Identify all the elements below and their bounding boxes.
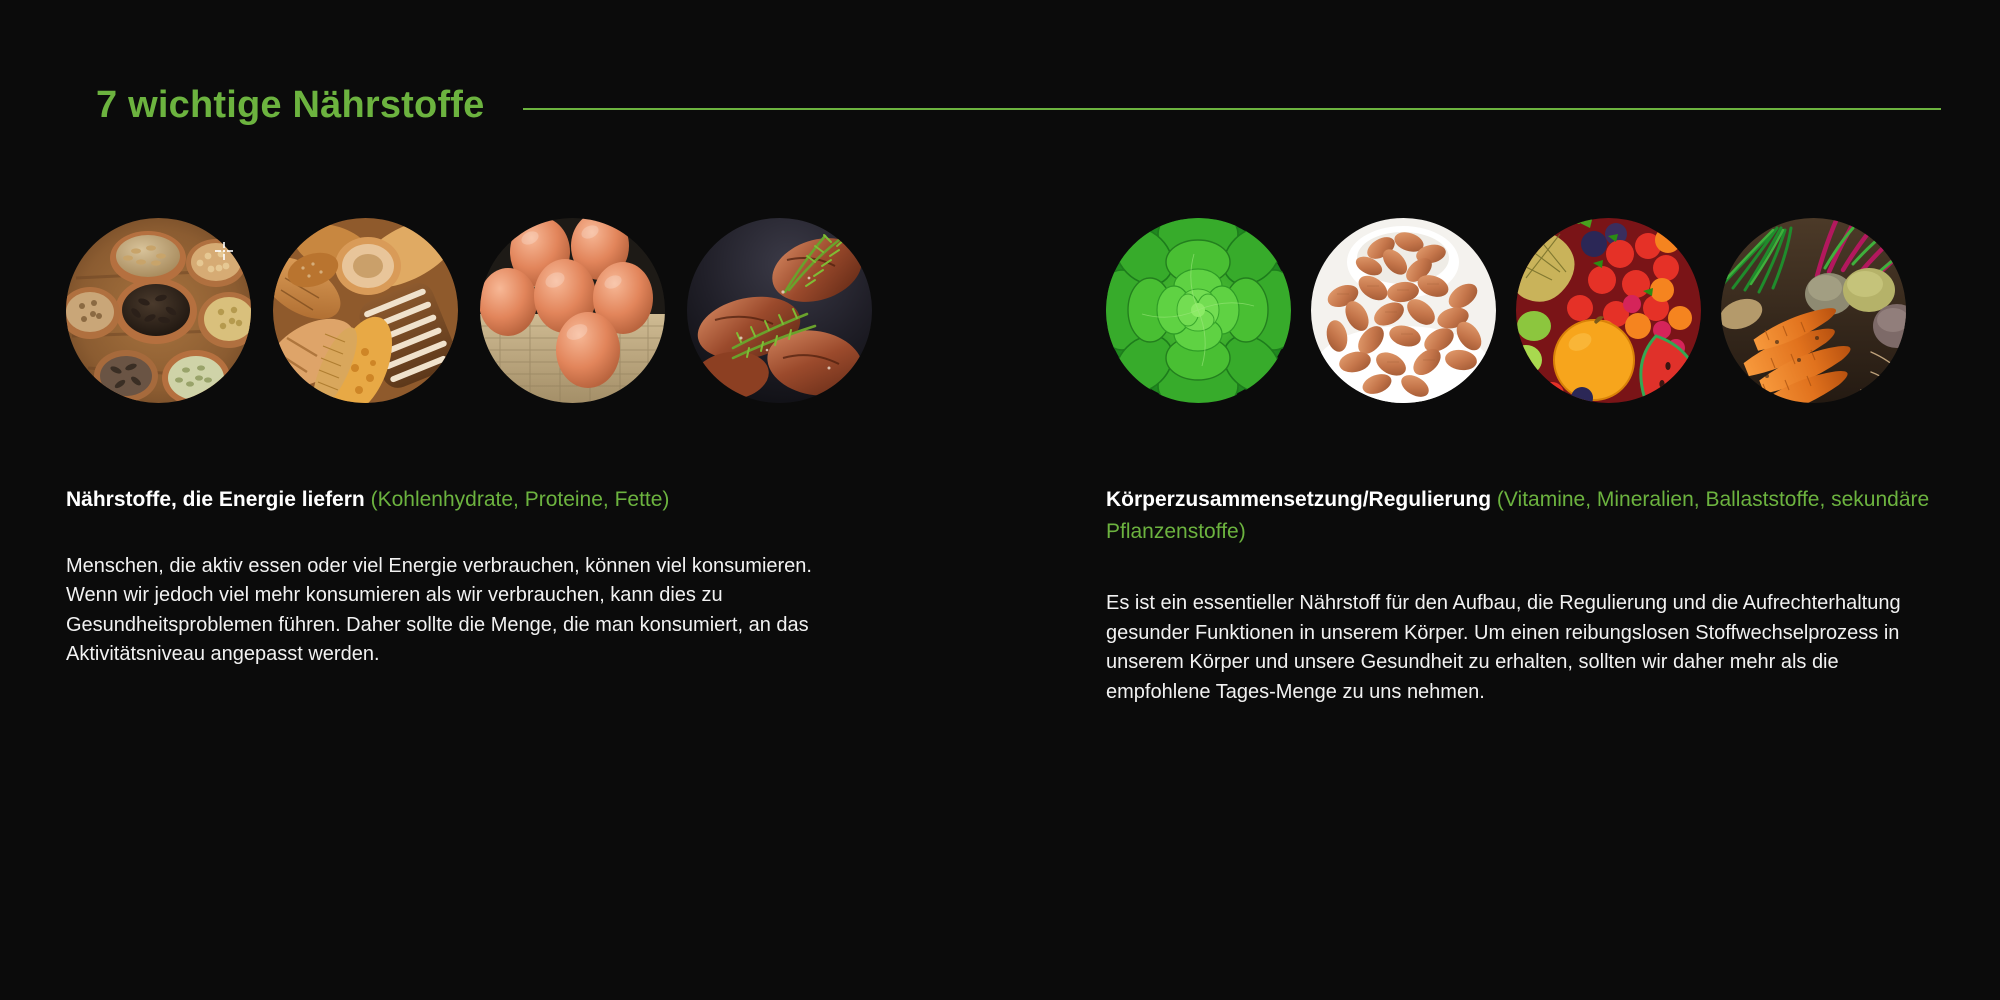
eggs-image [480, 218, 665, 403]
section-body-right: Es ist ein essentieller Nährstoff für de… [1106, 589, 1906, 707]
grilled-meat-rosemary-image [687, 218, 872, 403]
image-strip-left [66, 215, 946, 405]
section-heading-right: Körperzusammensetzung/Regulierung (Vitam… [1106, 484, 1936, 547]
root-vegetables-image [1721, 218, 1906, 403]
column-body-composition: Körperzusammensetzung/Regulierung (Vitam… [1106, 215, 1946, 707]
bread-assortment-image [273, 218, 458, 403]
almonds-bowl-image [1311, 218, 1496, 403]
grains-seeds-bowls-image [66, 218, 251, 403]
section-heading-bold: Nährstoffe, die Energie liefern [66, 488, 365, 511]
content-columns: Nährstoffe, die Energie liefern (Kohlenh… [0, 0, 2000, 1000]
image-strip-right [1106, 215, 1946, 405]
section-heading-bold: Körperzusammensetzung/Regulierung [1106, 488, 1491, 511]
column-energy-nutrients: Nährstoffe, die Energie liefern (Kohlenh… [66, 215, 946, 670]
section-heading-accent: (Kohlenhydrate, Proteine, Fette) [371, 488, 670, 511]
section-body-left: Menschen, die aktiv essen oder viel Ener… [66, 552, 856, 670]
section-heading-left: Nährstoffe, die Energie liefern (Kohlenh… [66, 484, 926, 516]
slide-root: 7 wichtige Nährstoffe [0, 0, 2000, 1000]
mixed-fruits-image [1516, 218, 1701, 403]
lettuce-cabbage-image [1106, 218, 1291, 403]
